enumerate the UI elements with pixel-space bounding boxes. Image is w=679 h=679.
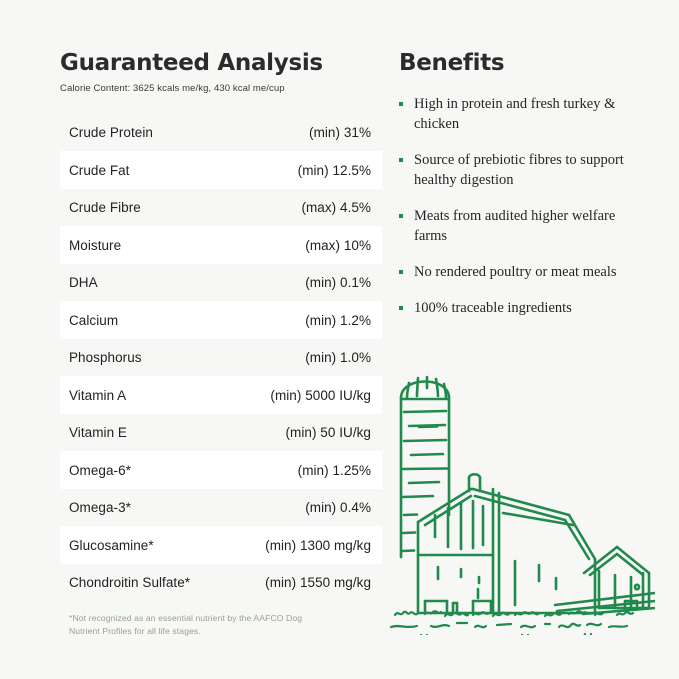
table-row: Omega-6*(min) 1.25% xyxy=(60,451,382,489)
nutrient-value: (max) 4.5% xyxy=(301,200,371,215)
table-row: Calcium(min) 1.2% xyxy=(60,301,382,339)
benefit-text: Source of prebiotic fibres to support he… xyxy=(414,150,626,190)
grass-field xyxy=(389,611,646,635)
nutrient-name: Glucosamine* xyxy=(69,538,154,553)
list-item: 100% traceable ingredients xyxy=(399,298,639,318)
table-row: Glucosamine*(min) 1300 mg/kg xyxy=(60,526,382,564)
nutrient-value: (min) 50 IU/kg xyxy=(286,425,371,440)
nutrient-value: (min) 31% xyxy=(309,125,371,140)
fence-lines xyxy=(555,593,655,614)
silo-icon xyxy=(401,377,449,557)
benefits-section: Benefits High in protein and fresh turke… xyxy=(387,50,639,679)
list-item: No rendered poultry or meat meals xyxy=(399,262,639,282)
table-row: Crude Protein(min) 31% xyxy=(60,114,382,152)
nutrient-name: Chondroitin Sulfate* xyxy=(69,575,190,590)
nutrient-name: Omega-3* xyxy=(69,500,131,515)
bullet-icon xyxy=(399,214,403,218)
nutrient-value: (min) 1550 mg/kg xyxy=(265,575,371,590)
nutrient-name: Vitamin A xyxy=(69,388,126,403)
nutrient-name: Omega-6* xyxy=(69,463,131,478)
nutrient-name: Crude Fibre xyxy=(69,200,141,215)
table-row: Vitamin E(min) 50 IU/kg xyxy=(60,414,382,452)
bullet-icon xyxy=(399,102,403,106)
side-shed-icon xyxy=(584,547,649,609)
benefit-text: No rendered poultry or meat meals xyxy=(414,262,617,282)
guaranteed-analysis-footnote: *Not recognized as an essential nutrient… xyxy=(69,612,309,637)
guaranteed-analysis-title: Guaranteed Analysis xyxy=(60,50,387,76)
nutrient-value: (min) 5000 IU/kg xyxy=(270,388,371,403)
nutrient-value: (min) 12.5% xyxy=(298,163,371,178)
nutrient-value: (min) 0.4% xyxy=(305,500,371,515)
product-spec-page: Guaranteed Analysis Calorie Content: 362… xyxy=(0,0,679,679)
table-row: Vitamin A(min) 5000 IU/kg xyxy=(60,376,382,414)
table-row: DHA(min) 0.1% xyxy=(60,264,382,302)
table-row: Crude Fat(min) 12.5% xyxy=(60,151,382,189)
table-row: Chondroitin Sulfate*(min) 1550 mg/kg xyxy=(60,564,382,602)
nutrient-value: (min) 1.2% xyxy=(305,313,371,328)
table-row: Phosphorus(min) 1.0% xyxy=(60,339,382,377)
nutrient-name: Phosphorus xyxy=(69,350,142,365)
table-row: Omega-3*(min) 0.4% xyxy=(60,489,382,527)
nutrient-value: (max) 10% xyxy=(305,238,371,253)
bullet-icon xyxy=(399,270,403,274)
table-row: Crude Fibre(max) 4.5% xyxy=(60,189,382,227)
nutrient-value: (min) 0.1% xyxy=(305,275,371,290)
list-item: Source of prebiotic fibres to support he… xyxy=(399,150,639,190)
guaranteed-analysis-section: Guaranteed Analysis Calorie Content: 362… xyxy=(60,50,387,679)
table-row: Moisture(max) 10% xyxy=(60,226,382,264)
nutrient-name: Crude Protein xyxy=(69,125,153,140)
nutrient-name: Vitamin E xyxy=(69,425,127,440)
benefits-list: High in protein and fresh turkey & chick… xyxy=(399,94,639,318)
guaranteed-analysis-table: Crude Protein(min) 31%Crude Fat(min) 12.… xyxy=(60,114,382,602)
benefit-text: 100% traceable ingredients xyxy=(414,298,572,318)
nutrient-name: Calcium xyxy=(69,313,118,328)
barn-icon xyxy=(418,474,595,613)
nutrient-name: Crude Fat xyxy=(69,163,129,178)
nutrient-name: Moisture xyxy=(69,238,121,253)
benefits-title: Benefits xyxy=(399,50,639,76)
benefit-text: High in protein and fresh turkey & chick… xyxy=(414,94,626,134)
list-item: Meats from audited higher welfare farms xyxy=(399,206,639,246)
barn-and-silo-illustration xyxy=(387,365,655,635)
nutrient-value: (min) 1.0% xyxy=(305,350,371,365)
nutrient-name: DHA xyxy=(69,275,98,290)
bullet-icon xyxy=(399,158,403,162)
benefit-text: Meats from audited higher welfare farms xyxy=(414,206,626,246)
nutrient-value: (min) 1.25% xyxy=(298,463,371,478)
list-item: High in protein and fresh turkey & chick… xyxy=(399,94,639,134)
nutrient-value: (min) 1300 mg/kg xyxy=(265,538,371,553)
calorie-content-text: Calorie Content: 3625 kcals me/kg, 430 k… xyxy=(60,83,387,95)
bullet-icon xyxy=(399,306,403,310)
